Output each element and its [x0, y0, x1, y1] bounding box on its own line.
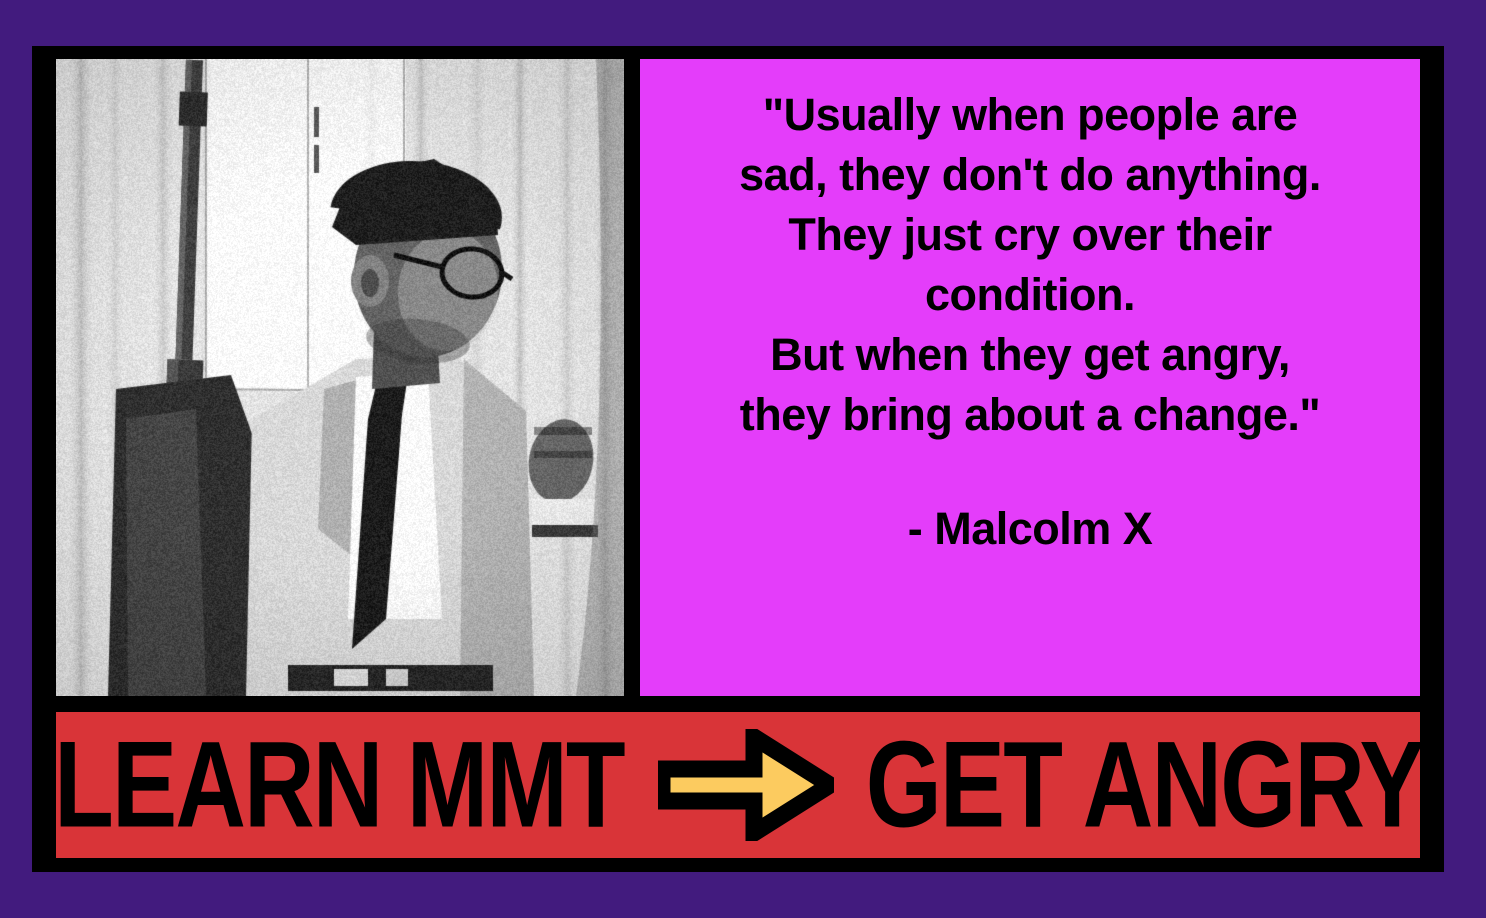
quote-line-6: they bring about a change."	[658, 385, 1402, 445]
quote-panel: "Usually when people are sad, they don't…	[640, 59, 1420, 696]
photo-canvas	[56, 59, 624, 696]
quote-line-5: But when they get angry,	[658, 325, 1402, 385]
right-arrow-icon	[658, 729, 834, 841]
quote-spacer	[658, 445, 1402, 501]
banner-right-text: GET ANGRY	[865, 721, 1420, 848]
meme-image: "Usually when people are sad, they don't…	[0, 0, 1486, 918]
banner-left-text: LEARN MMT	[56, 721, 624, 848]
meme-top-row: "Usually when people are sad, they don't…	[56, 59, 1420, 696]
malcolm-x-photo	[56, 59, 624, 696]
quote-line-2: sad, they don't do anything.	[658, 145, 1402, 205]
quote-line-1: "Usually when people are	[658, 85, 1402, 145]
meme-black-frame: "Usually when people are sad, they don't…	[32, 46, 1444, 872]
quote-line-3: They just cry over their	[658, 205, 1402, 265]
quote-attribution: - Malcolm X	[658, 501, 1402, 557]
quote-line-4: condition.	[658, 265, 1402, 325]
call-to-action-banner: LEARN MMT GET ANGRY	[56, 712, 1420, 858]
